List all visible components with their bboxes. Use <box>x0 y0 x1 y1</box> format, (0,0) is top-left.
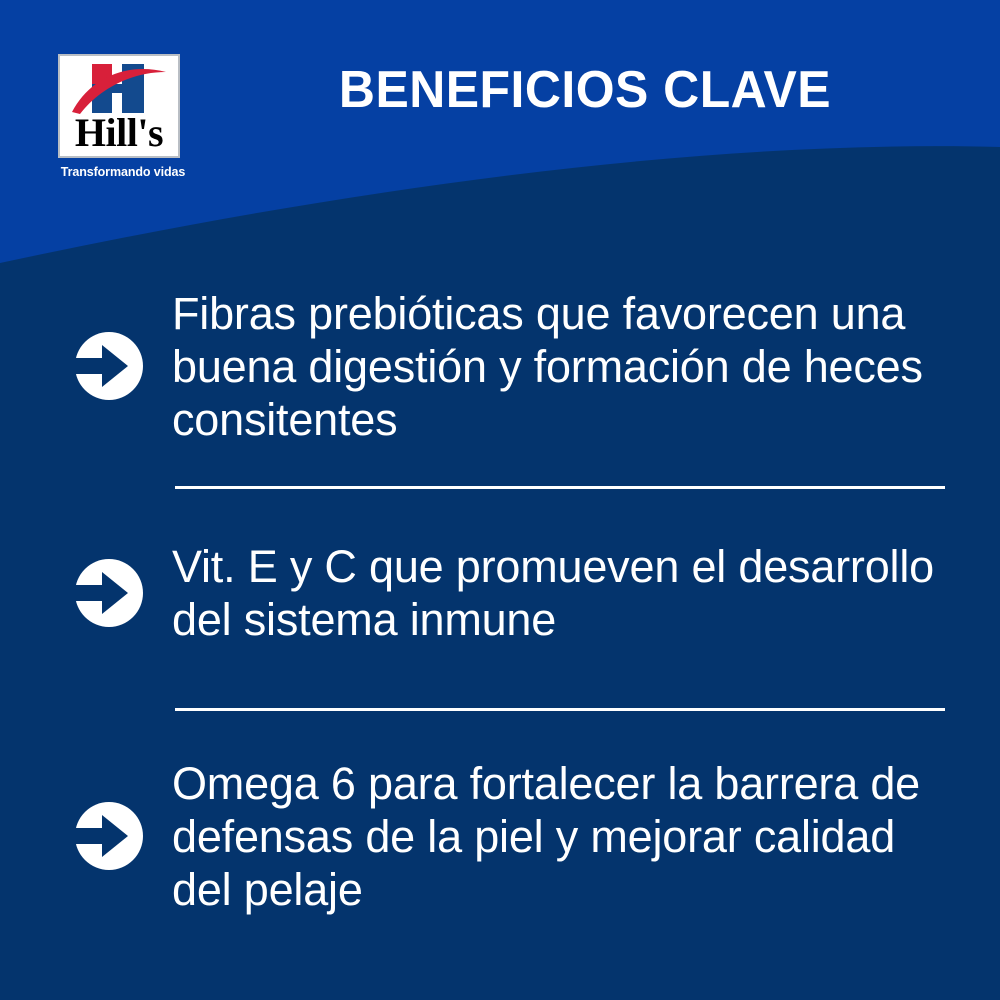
hills-h-monogram-icon <box>60 60 178 116</box>
arrow-right-circle-icon <box>68 799 150 873</box>
benefit-item: Vit. E y C que promueven el desarrollo d… <box>0 523 1000 663</box>
divider <box>175 708 945 711</box>
logo-tagline: Transformando vidas <box>58 165 188 179</box>
arrow-right-circle-icon <box>68 556 150 630</box>
arrow-right-circle-icon <box>68 329 150 403</box>
logo-wordmark: Hill's <box>60 111 178 155</box>
benefits-card: Hill's Transformando vidas BENEFICIOS CL… <box>0 0 1000 1000</box>
benefits-list: Fibras prebióticas que favorecen una bue… <box>0 268 1000 988</box>
brand-logo: Hill's Transformando vidas <box>58 54 188 179</box>
benefit-item: Omega 6 para fortalecer la barrera de de… <box>0 746 1000 926</box>
logo-box: Hill's <box>58 54 180 158</box>
benefit-item: Fibras prebióticas que favorecen una bue… <box>0 276 1000 456</box>
benefit-text: Omega 6 para fortalecer la barrera de de… <box>172 757 1000 916</box>
benefit-text: Vit. E y C que promueven el desarrollo d… <box>172 540 1000 646</box>
benefit-text: Fibras prebióticas que favorecen una bue… <box>172 287 1000 446</box>
divider <box>175 486 945 489</box>
page-title: BENEFICIOS CLAVE <box>230 62 940 118</box>
